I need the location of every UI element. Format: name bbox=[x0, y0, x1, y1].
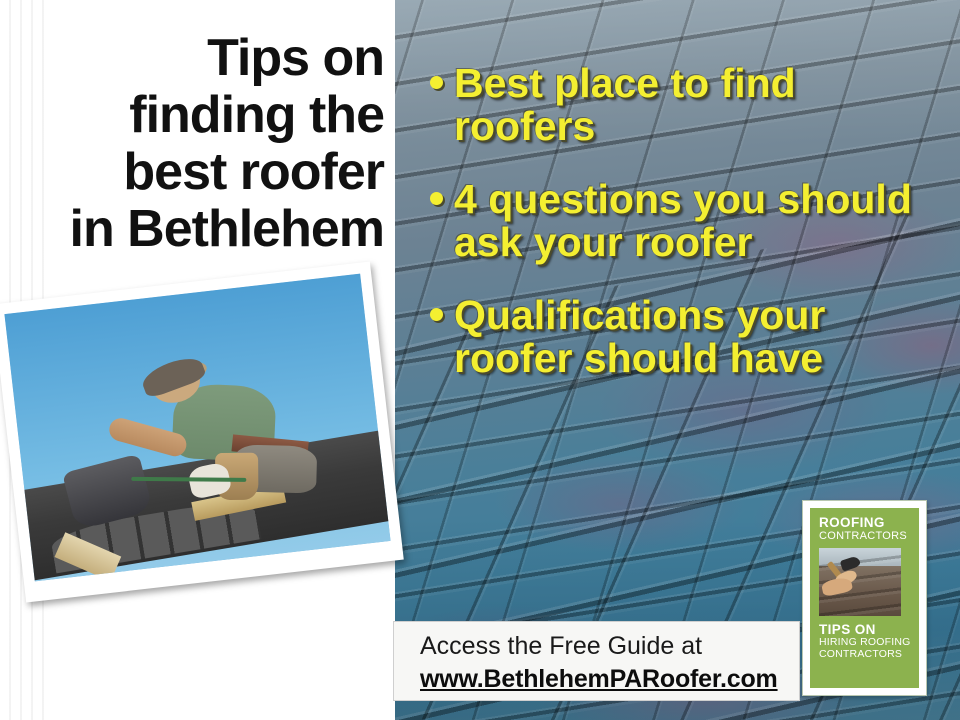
bullet-item-2-label: 4 questions you should ask your roofer bbox=[454, 176, 912, 265]
bullet-list: Best place to find roofers 4 questions y… bbox=[428, 62, 948, 410]
booklet-subtitle-top: CONTRACTORS bbox=[819, 530, 912, 542]
bullet-item-1-label: Best place to find roofers bbox=[454, 60, 796, 149]
page-title: Tips on finding the best roofer in Bethl… bbox=[8, 30, 384, 258]
bullet-item-1: Best place to find roofers bbox=[428, 62, 948, 148]
slide-canvas: Tips on finding the best roofer in Bethl… bbox=[0, 0, 960, 720]
bullet-item-3: Qualifications your roofer should have bbox=[428, 294, 948, 380]
bullet-dot-icon bbox=[430, 192, 443, 205]
website-url-link[interactable]: www.BethlehemPARoofer.com bbox=[420, 662, 799, 696]
headline-line-2: finding the bbox=[8, 87, 384, 144]
booklet-cover: ROOFING CONTRACTORS TIPS ON HIRING ROOFI… bbox=[810, 508, 919, 688]
cta-heading: Access the Free Guide at bbox=[420, 630, 799, 662]
booklet-title-top: ROOFING bbox=[819, 516, 912, 530]
headline-line-1: Tips on bbox=[8, 30, 384, 87]
photo-air-hose bbox=[132, 477, 247, 482]
booklet-title-bottom: TIPS ON bbox=[819, 623, 912, 637]
bullet-dot-icon bbox=[430, 76, 443, 89]
bullet-item-3-label: Qualifications your roofer should have bbox=[454, 292, 825, 381]
bullet-item-2: 4 questions you should ask your roofer bbox=[428, 178, 948, 264]
booklet-subtitle-bottom-1: HIRING ROOFING bbox=[819, 637, 912, 649]
call-to-action-bar: Access the Free Guide at www.BethlehemPA… bbox=[393, 621, 800, 701]
photo-worker-figure bbox=[137, 348, 318, 522]
roofer-photo-image bbox=[4, 274, 390, 582]
headline-line-3: best roofer bbox=[8, 144, 384, 201]
booklet-cover-photo bbox=[819, 548, 901, 616]
headline-line-4: in Bethlehem bbox=[8, 201, 384, 258]
guide-booklet-thumbnail[interactable]: ROOFING CONTRACTORS TIPS ON HIRING ROOFI… bbox=[802, 500, 927, 696]
bullet-dot-icon bbox=[430, 308, 443, 321]
roofer-photo-polaroid bbox=[0, 261, 404, 602]
booklet-subtitle-bottom-2: CONTRACTORS bbox=[819, 649, 912, 661]
